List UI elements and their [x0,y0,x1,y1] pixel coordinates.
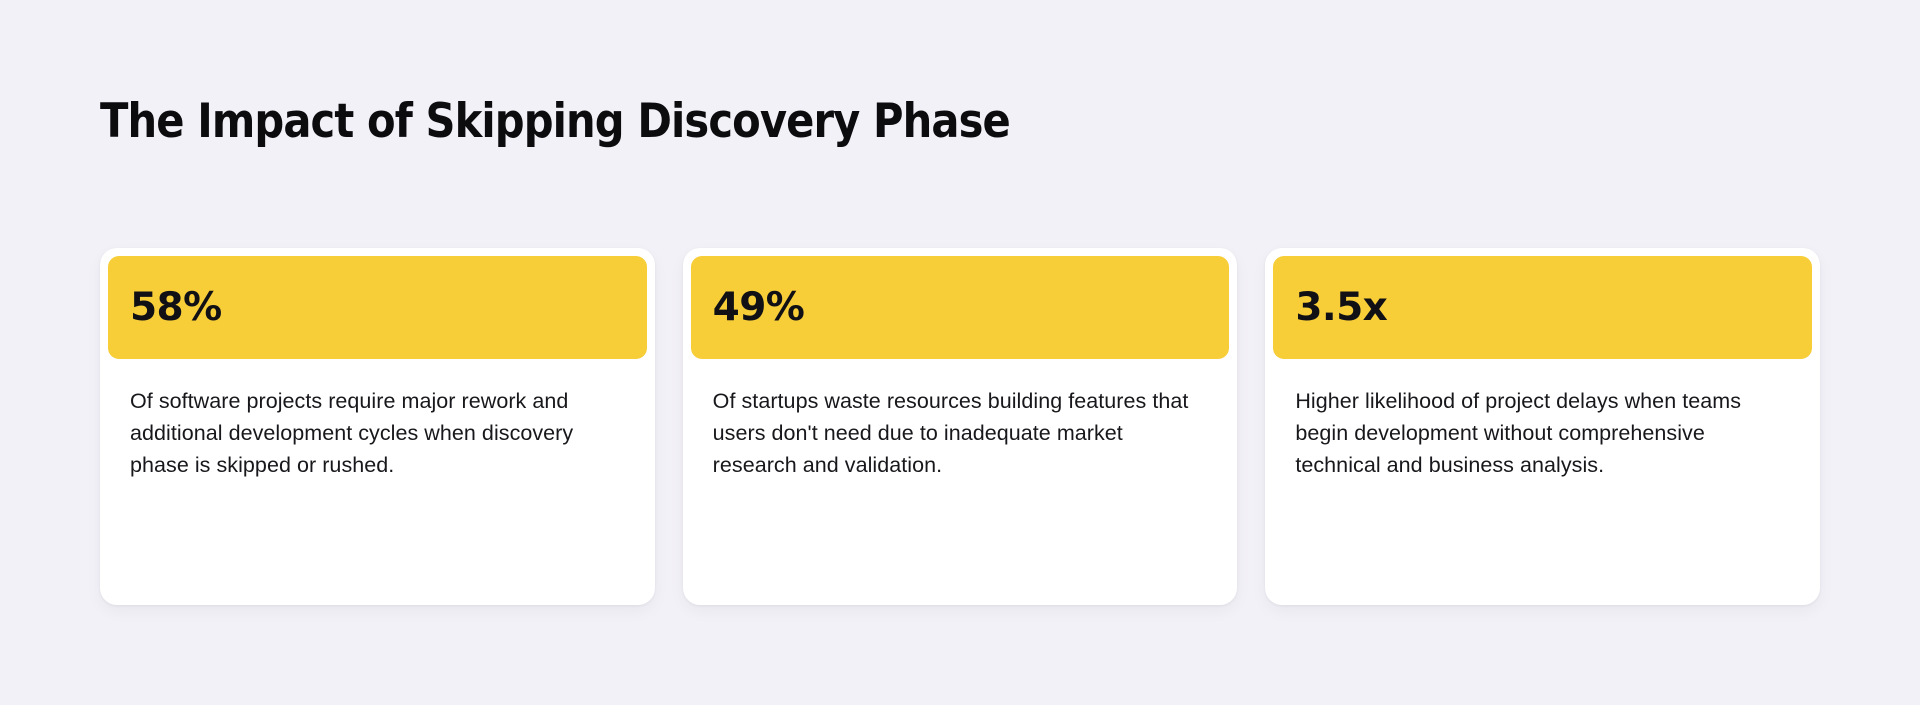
stat-card: 58% Of software projects require major r… [100,248,655,605]
stat-card: 3.5x Higher likelihood of project delays… [1265,248,1820,605]
stat-card-header: 49% [691,256,1230,359]
stat-value: 58% [130,286,222,330]
stat-description: Higher likelihood of project delays when… [1295,385,1788,481]
stat-cards-row: 58% Of software projects require major r… [100,248,1820,605]
stat-card-header: 58% [108,256,647,359]
infographic-page: The Impact of Skipping Discovery Phase 5… [0,0,1920,705]
stat-card-body: Of startups waste resources building fea… [691,359,1230,605]
stat-value: 49% [713,286,805,330]
stat-value: 3.5x [1295,286,1387,330]
stat-description: Of software projects require major rewor… [130,385,623,481]
stat-card-header: 3.5x [1273,256,1812,359]
stat-card-body: Of software projects require major rewor… [108,359,647,605]
stat-card-body: Higher likelihood of project delays when… [1273,359,1812,605]
stat-description: Of startups waste resources building fea… [713,385,1206,481]
page-title: The Impact of Skipping Discovery Phase [100,93,1010,151]
stat-card: 49% Of startups waste resources building… [683,248,1238,605]
